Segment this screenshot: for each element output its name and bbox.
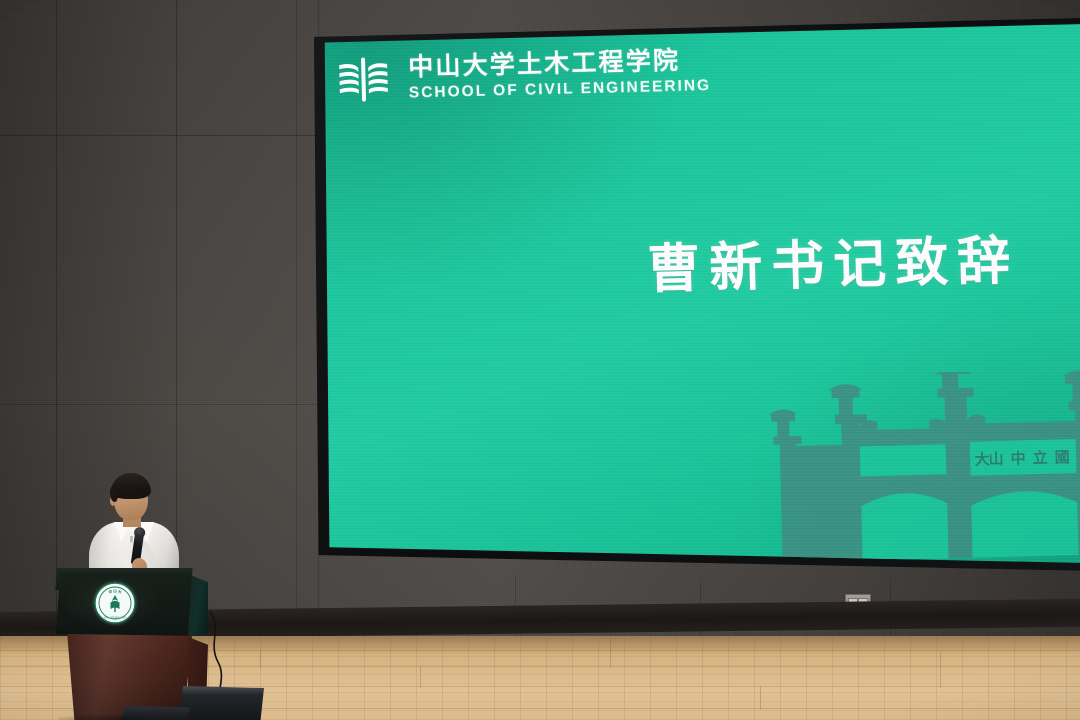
slide-main-title: 曹新书记致辞 [613, 230, 1054, 302]
civil-engineering-book-logo-icon [336, 54, 391, 105]
svg-text:山: 山 [988, 450, 1003, 468]
svg-text:立: 立 [1032, 449, 1047, 467]
svg-text:中: 中 [109, 589, 113, 594]
speaker-hair [111, 473, 151, 499]
sun-yat-sen-university-paifang-gate-icon: 國 立 中 山 大 [754, 368, 1080, 571]
podium-and-speaker: 中 山 大 SUN YAT-SEN UNIV [50, 460, 260, 720]
led-display-screen[interactable]: 中山大学土木工程学院 SCHOOL OF CIVIL ENGINEERING 曹… [307, 18, 1080, 574]
screenshot-scene: 中山大学土木工程学院 SCHOOL OF CIVIL ENGINEERING 曹… [0, 0, 1080, 720]
slide-header: 中山大学土木工程学院 SCHOOL OF CIVIL ENGINEERING [336, 46, 711, 105]
screen-surface: 中山大学土木工程学院 SCHOOL OF CIVIL ENGINEERING 曹… [307, 18, 1080, 574]
sun-yat-sen-university-seal-icon: 中 山 大 SUN YAT-SEN UNIV [94, 582, 136, 624]
slide-logo-title-cn: 中山大学土木工程学院 [408, 47, 711, 81]
svg-text:大: 大 [974, 450, 989, 468]
wall-panel-seam [296, 0, 297, 640]
svg-text:國: 國 [1054, 448, 1069, 466]
svg-text:大: 大 [118, 589, 122, 594]
floor-wedge-monitor-base [120, 706, 190, 720]
svg-text:SUN YAT-SEN UNIV: SUN YAT-SEN UNIV [104, 616, 126, 619]
slide-logo-title-en: SCHOOL OF CIVIL ENGINEERING [409, 77, 712, 102]
svg-text:中: 中 [1010, 449, 1025, 467]
floor-wedge-monitor [178, 686, 264, 720]
svg-text:山: 山 [113, 588, 117, 593]
